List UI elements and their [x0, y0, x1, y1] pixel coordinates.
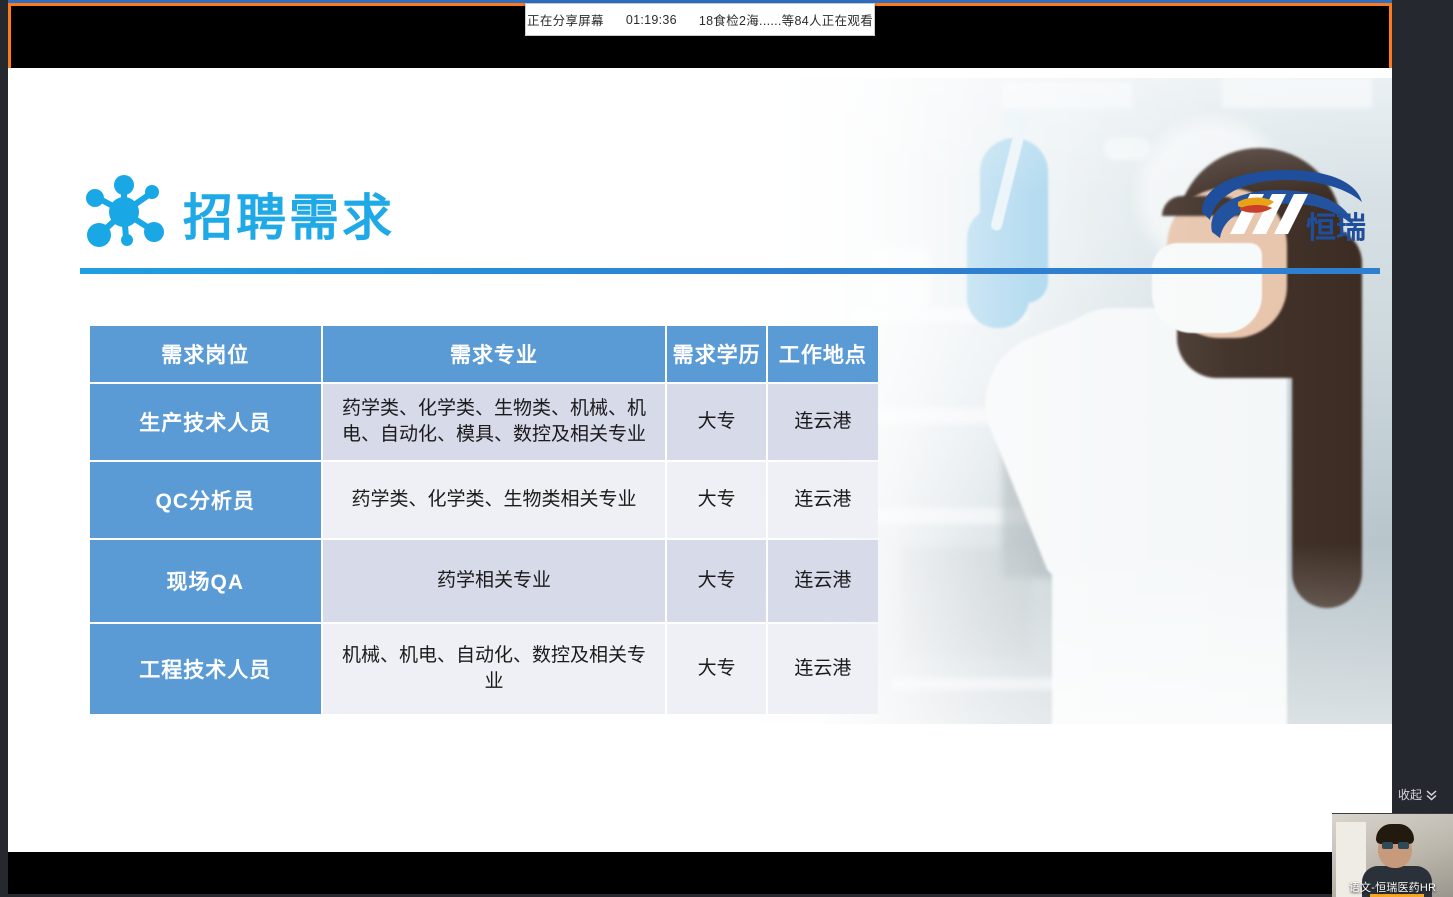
title-divider: [80, 268, 1380, 274]
recruitment-requirements-table: 需求岗位 需求专业 需求学历 工作地点 生产技术人员 药学类、化学类、生物类、机…: [88, 324, 880, 716]
cell-position: QC分析员: [90, 462, 321, 538]
participant-name-label: 语文-恒瑞医药HR: [1332, 879, 1453, 895]
cell-location: 连云港: [768, 624, 878, 714]
share-timer: 01:19:36: [615, 13, 688, 27]
molecule-icon: [80, 172, 172, 250]
collapse-label: 收起: [1398, 786, 1422, 803]
table-row: QC分析员 药学类、化学类、生物类相关专业 大专 连云港: [90, 462, 878, 538]
cell-education: 大专: [667, 624, 765, 714]
page-title: 招聘需求: [183, 178, 395, 250]
viewers-label[interactable]: 18食检2海......等84人正在观看: [688, 10, 884, 29]
video-person-glasses-right: [1398, 842, 1409, 849]
collapse-panel-button[interactable]: 收起: [1392, 775, 1453, 813]
right-chrome-strip: [1392, 0, 1453, 897]
presentation-slide: 招聘需求 恒瑞 需求岗位 需求专业: [8, 68, 1392, 852]
self-video-thumbnail[interactable]: 语文-恒瑞医药HR: [1332, 813, 1453, 897]
slide-header: 招聘需求 恒瑞: [8, 68, 1392, 203]
column-header-major: 需求专业: [323, 326, 666, 382]
sharing-status-label: 正在分享屏幕: [516, 10, 615, 29]
slide-letterbox-bottom: [8, 852, 1392, 894]
left-chrome-strip: [0, 0, 8, 897]
table-header-row: 需求岗位 需求专业 需求学历 工作地点: [90, 326, 878, 382]
cell-position: 生产技术人员: [90, 384, 321, 460]
video-person-glasses-left: [1382, 842, 1393, 849]
cell-major: 机械、机电、自动化、数控及相关专业: [323, 624, 666, 714]
video-person-hair: [1376, 824, 1414, 844]
cell-position: 现场QA: [90, 540, 321, 622]
chevron-double-down-icon: [1425, 788, 1438, 801]
svg-text:恒瑞: 恒瑞: [1306, 211, 1366, 246]
hengrui-logo: 恒瑞: [1194, 168, 1374, 250]
cell-major: 药学相关专业: [323, 540, 666, 622]
table-row: 工程技术人员 机械、机电、自动化、数控及相关专业 大专 连云港: [90, 624, 878, 714]
screen-share-window: 招聘需求 恒瑞 需求岗位 需求专业: [0, 0, 1453, 897]
column-header-education: 需求学历: [667, 326, 765, 382]
screen-share-toolbar[interactable]: 正在分享屏幕 01:19:36 18食检2海......等84人正在观看: [525, 3, 875, 36]
table-row: 生产技术人员 药学类、化学类、生物类、机械、机电、自动化、模具、数控及相关专业 …: [90, 384, 878, 460]
cell-location: 连云港: [768, 462, 878, 538]
cell-education: 大专: [667, 462, 765, 538]
cell-education: 大专: [667, 384, 765, 460]
cell-location: 连云港: [768, 540, 878, 622]
column-header-position: 需求岗位: [90, 326, 321, 382]
table-row: 现场QA 药学相关专业 大专 连云港: [90, 540, 878, 622]
cell-education: 大专: [667, 540, 765, 622]
cell-location: 连云港: [768, 384, 878, 460]
column-header-location: 工作地点: [768, 326, 878, 382]
cell-major: 药学类、化学类、生物类、机械、机电、自动化、模具、数控及相关专业: [323, 384, 666, 460]
cell-major: 药学类、化学类、生物类相关专业: [323, 462, 666, 538]
cell-position: 工程技术人员: [90, 624, 321, 714]
